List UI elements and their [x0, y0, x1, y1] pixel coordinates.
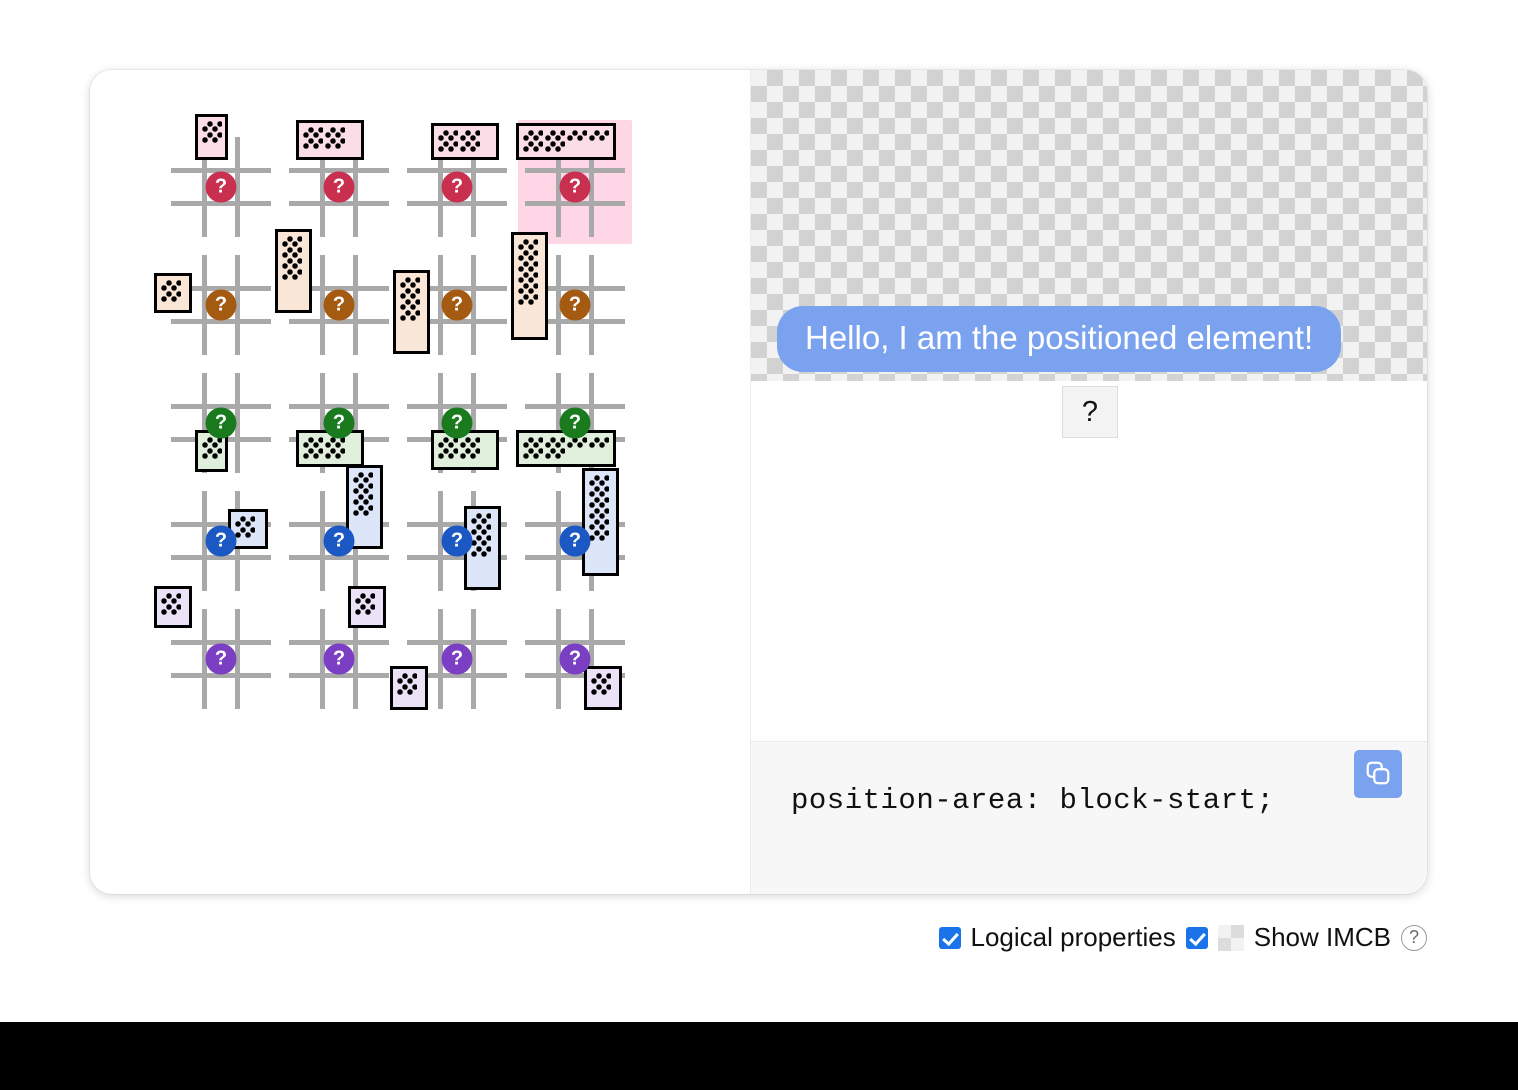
- picker-cell-stage: ?: [280, 246, 398, 364]
- picker-cell[interactable]: ?: [516, 482, 634, 600]
- copy-button[interactable]: [1354, 750, 1402, 798]
- picker-cell[interactable]: ?: [398, 482, 516, 600]
- picker-anchor-dot: ?: [442, 408, 473, 439]
- picker-cell-stage: ?: [516, 364, 634, 482]
- picker-cell-stage: ?: [162, 600, 280, 718]
- picker-cell-stage: ?: [398, 364, 516, 482]
- picker-positioned-box: [296, 120, 364, 160]
- picker-anchor-dot: ?: [206, 290, 237, 321]
- picker-cell[interactable]: ?: [162, 128, 280, 246]
- picker-anchor-dot: ?: [324, 290, 355, 321]
- footer-controls: Logical properties Show IMCB ?: [0, 922, 1427, 953]
- picker-cell-stage: ?: [162, 128, 280, 246]
- picker-cell-stage: ?: [398, 600, 516, 718]
- copy-icon: [1364, 759, 1392, 790]
- logical-properties-checkbox[interactable]: [939, 927, 961, 949]
- picker-positioned-box: [511, 232, 548, 340]
- picker-anchor-dot: ?: [442, 290, 473, 321]
- picker-cell[interactable]: ?: [516, 364, 634, 482]
- picker-cell[interactable]: ?: [162, 364, 280, 482]
- picker-cell-stage: ?: [516, 482, 634, 600]
- picker-anchor-dot: ?: [560, 172, 591, 203]
- picker-positioned-box: [275, 229, 312, 313]
- picker-cell[interactable]: ?: [398, 128, 516, 246]
- picker-anchor-dot: ?: [206, 644, 237, 675]
- help-icon[interactable]: ?: [1401, 925, 1427, 951]
- picker-positioned-box: [348, 586, 386, 628]
- picker-positioned-box: [393, 270, 430, 354]
- picker-positioned-box: [390, 666, 428, 710]
- checkerboard-swatch-icon: [1218, 925, 1244, 951]
- picker-cell-stage: ?: [516, 600, 634, 718]
- show-imcb-control[interactable]: Show IMCB: [1186, 922, 1391, 953]
- logical-properties-control[interactable]: Logical properties: [939, 922, 1176, 953]
- picker-cell-stage: ?: [516, 128, 634, 246]
- picker-anchor-dot: ?: [560, 644, 591, 675]
- picker-anchor-dot: ?: [324, 526, 355, 557]
- show-imcb-label: Show IMCB: [1254, 922, 1391, 953]
- picker-cell[interactable]: ?: [162, 482, 280, 600]
- picker-anchor-dot: ?: [442, 644, 473, 675]
- picker-anchor-dot: ?: [442, 172, 473, 203]
- picker-cell[interactable]: ?: [398, 600, 516, 718]
- picker-cell[interactable]: ?: [398, 246, 516, 364]
- picker-anchor-dot: ?: [324, 408, 355, 439]
- picker-row-block-end: ????: [162, 364, 692, 482]
- picker-row-inline-start: ????: [162, 246, 692, 364]
- picker-row-corners: ????: [162, 600, 692, 718]
- picker-cell-stage: ?: [280, 600, 398, 718]
- position-area-card: ???????????????????? Hello, I am the pos…: [90, 70, 1427, 894]
- picker-anchor-dot: ?: [560, 408, 591, 439]
- picker-cell-stage: ?: [162, 482, 280, 600]
- picker-positioned-box: [195, 114, 228, 160]
- picker-positioned-box: [154, 273, 192, 313]
- picker-positioned-box: [516, 123, 616, 160]
- picker-cell[interactable]: ?: [280, 482, 398, 600]
- picker-cell[interactable]: ?: [516, 128, 634, 246]
- picker-cell-stage: ?: [398, 128, 516, 246]
- position-area-picker: ????????????????????: [90, 70, 750, 894]
- picker-positioned-box: [154, 586, 192, 628]
- picker-cell[interactable]: ?: [516, 246, 634, 364]
- picker-cell[interactable]: ?: [398, 364, 516, 482]
- picker-anchor-dot: ?: [560, 526, 591, 557]
- picker-anchor-dot: ?: [206, 172, 237, 203]
- picker-cell-stage: ?: [162, 246, 280, 364]
- picker-anchor-dot: ?: [324, 172, 355, 203]
- show-imcb-checkbox[interactable]: [1186, 927, 1208, 949]
- picker-cell-stage: ?: [398, 246, 516, 364]
- picker-anchor-dot: ?: [442, 526, 473, 557]
- picker-cell[interactable]: ?: [162, 246, 280, 364]
- picker-positioned-box: [584, 666, 622, 710]
- picker-anchor-dot: ?: [560, 290, 591, 321]
- code-pane: position-area: block-start;: [751, 741, 1427, 894]
- picker-cell[interactable]: ?: [280, 600, 398, 718]
- picker-row-block-start: ????: [162, 128, 692, 246]
- preview-pane: Hello, I am the positioned element! ? po…: [750, 70, 1427, 894]
- picker-cell[interactable]: ?: [162, 600, 280, 718]
- picker-positioned-box: [582, 468, 619, 576]
- picker-cell-stage: ?: [398, 482, 516, 600]
- anchor-element: ?: [1062, 386, 1118, 438]
- picker-cell-stage: ?: [162, 364, 280, 482]
- bottom-band: [0, 1022, 1518, 1090]
- css-declaration: position-area: block-start;: [791, 784, 1274, 817]
- picker-cell-stage: ?: [280, 482, 398, 600]
- picker-row-inline-end: ????: [162, 482, 692, 600]
- picker-positioned-box: [431, 123, 499, 160]
- picker-anchor-dot: ?: [324, 644, 355, 675]
- picker-anchor-dot: ?: [206, 408, 237, 439]
- logical-properties-label: Logical properties: [971, 922, 1176, 953]
- positioned-element-bubble: Hello, I am the positioned element!: [777, 306, 1341, 372]
- app-root: ???????????????????? Hello, I am the pos…: [0, 0, 1518, 1090]
- picker-anchor-dot: ?: [206, 526, 237, 557]
- picker-cell[interactable]: ?: [516, 600, 634, 718]
- picker-cell[interactable]: ?: [280, 246, 398, 364]
- picker-cell-stage: ?: [516, 246, 634, 364]
